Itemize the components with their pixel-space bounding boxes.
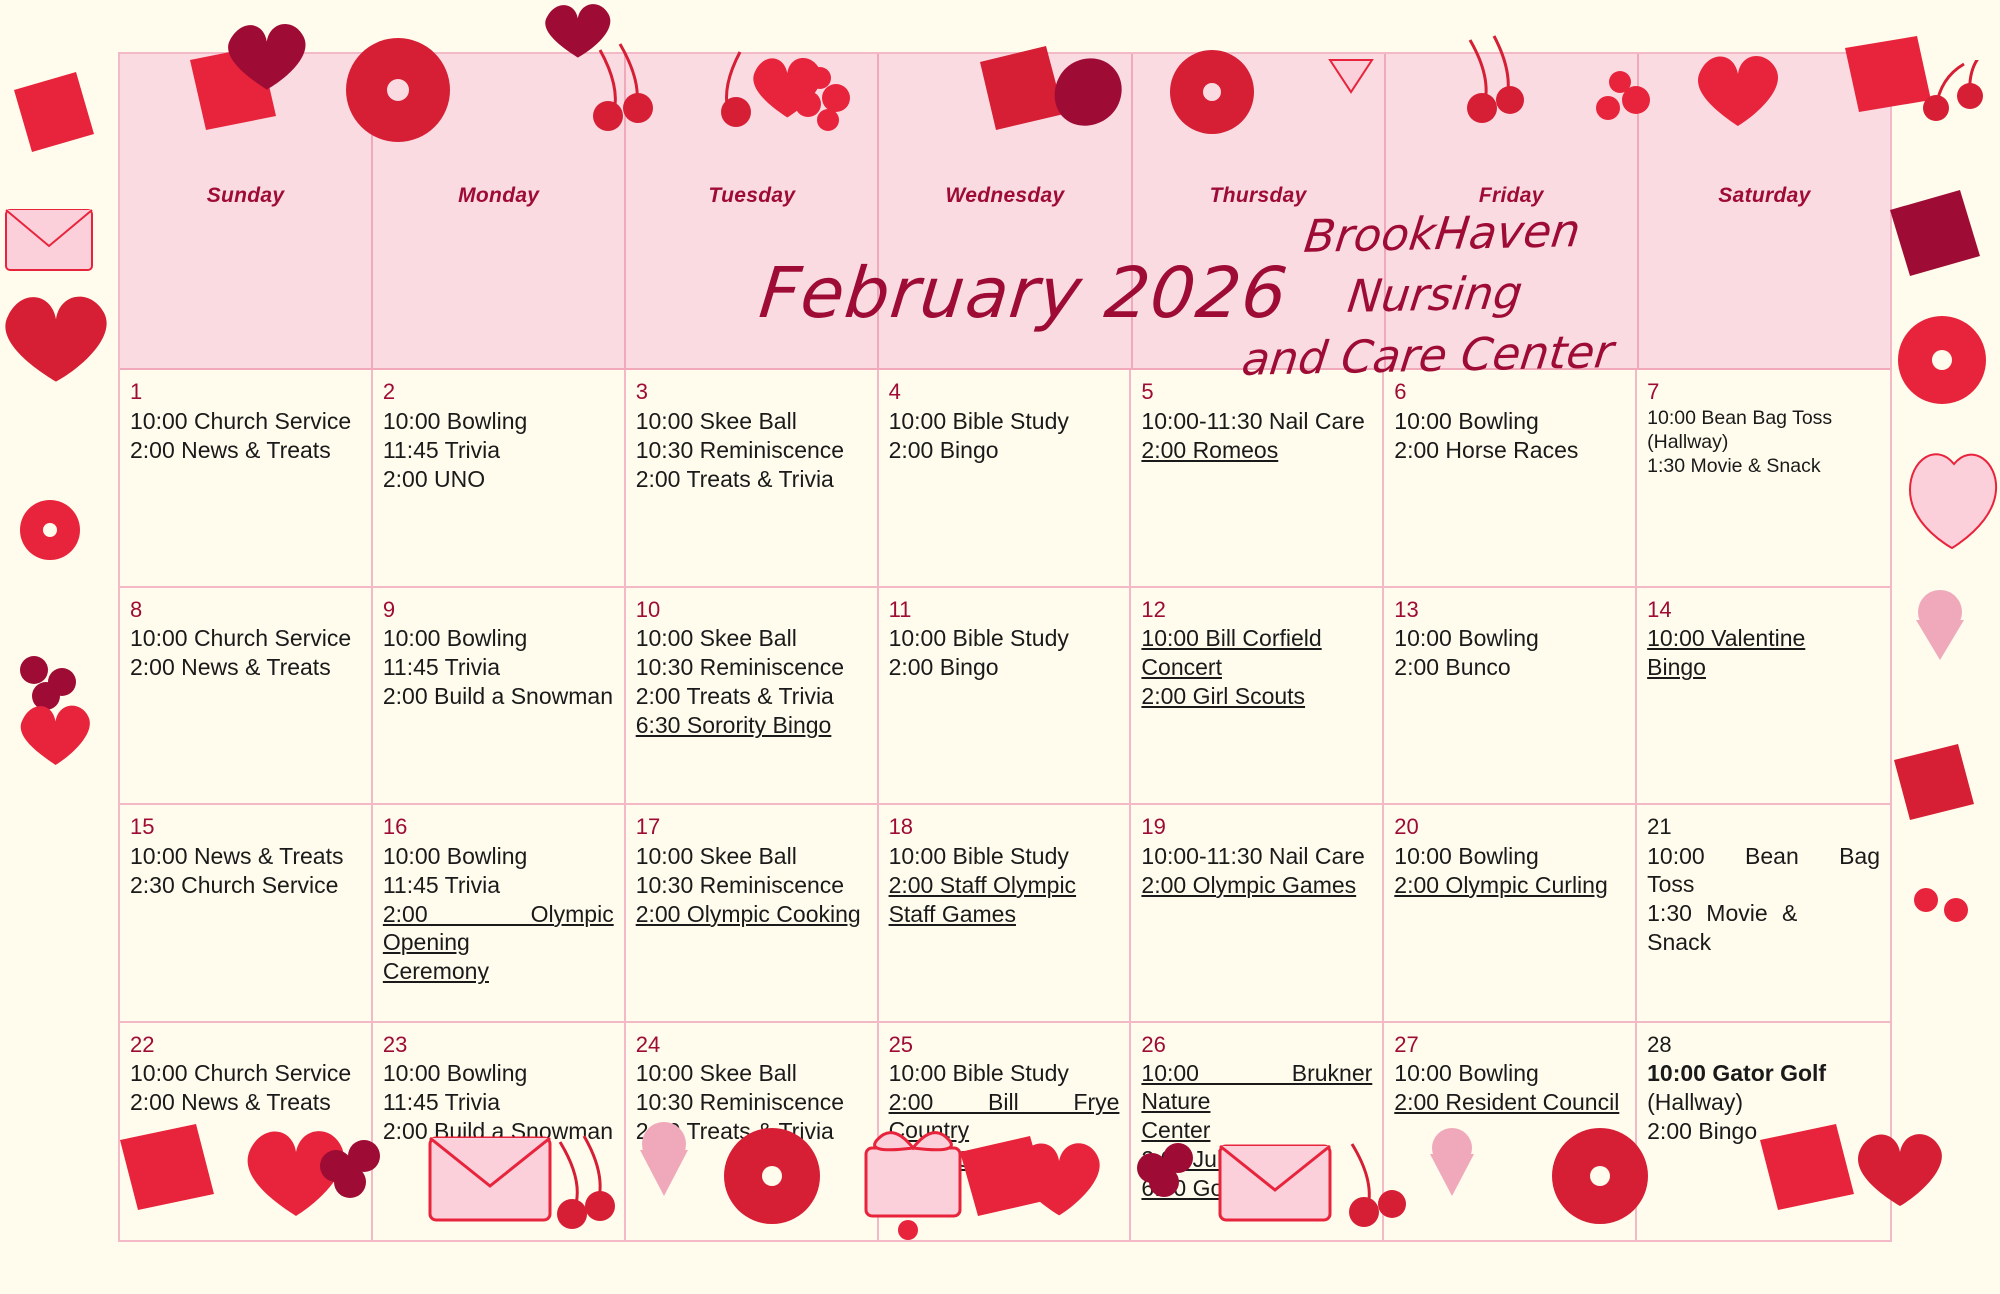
event-item: 10:00 Bowling: [1394, 407, 1625, 435]
day-cell-27[interactable]: 2710:00 Bowling2:00 Resident Council: [1384, 1023, 1637, 1241]
event-item: 11:45 Trivia: [383, 871, 614, 899]
event-item: 10:00 Skee Ball: [636, 407, 867, 435]
event-item: 10:00 Skee Ball: [636, 624, 867, 652]
event-item: 10:00 Skee Ball: [636, 1059, 867, 1087]
day-cell-12[interactable]: 1210:00 Bill Corfield Concert2:00 Girl S…: [1131, 588, 1384, 806]
event-item: 10:00 Bowling: [1394, 1059, 1625, 1087]
event-item[interactable]: 2:00 Olympic Opening: [383, 900, 614, 956]
event-list: 10:00 Church Service2:00 News & Treats: [130, 1059, 361, 1116]
day-number: 28: [1647, 1031, 1880, 1059]
day-cell-21[interactable]: 2110:00 Bean Bag Toss1:30 Movie &Snack: [1637, 805, 1890, 1023]
event-item: 2:00 News & Treats: [130, 653, 361, 681]
event-item: 10:00 Church Service: [130, 407, 361, 435]
day-cell-8[interactable]: 810:00 Church Service2:00 News & Treats: [120, 588, 373, 806]
day-number: 15: [130, 813, 361, 841]
day-number: 25: [889, 1031, 1120, 1059]
event-list: 10:00 Skee Ball10:30 Reminiscence2:00 Tr…: [636, 1059, 867, 1145]
event-item: 2:00 Build a Snowman: [383, 1117, 614, 1145]
event-item: 2:00 Bingo: [889, 653, 1120, 681]
event-item: 10:00 Bible Study: [889, 842, 1120, 870]
event-item: (Hallway): [1647, 431, 1880, 454]
event-list: 10:00 Bible Study2:00 Bill Frye CountryM…: [889, 1059, 1120, 1173]
day-cell-19[interactable]: 1910:00-11:30 Nail Care2:00 Olympic Game…: [1131, 805, 1384, 1023]
day-header-monday: Monday: [373, 54, 626, 368]
event-item: 11:45 Trivia: [383, 653, 614, 681]
event-list: 10:00 Bowling2:00 Olympic Curling: [1394, 842, 1625, 899]
day-cell-26[interactable]: 2610:00 Brukner NatureCenter2:00 Juliett…: [1131, 1023, 1384, 1241]
day-cell-9[interactable]: 910:00 Bowling11:45 Trivia2:00 Build a S…: [373, 588, 626, 806]
event-item: 10:00 Bean Bag Toss: [1647, 407, 1880, 430]
event-item: 2:00 Treats & Trivia: [636, 682, 867, 710]
day-number: 26: [1141, 1031, 1372, 1059]
event-item: 10:00 Bowling: [1394, 624, 1625, 652]
day-header-label: Monday: [373, 184, 624, 208]
day-number: 23: [383, 1031, 614, 1059]
day-number: 17: [636, 813, 867, 841]
day-cell-28[interactable]: 2810:00 Gator Golf(Hallway)2:00 Bingo: [1637, 1023, 1890, 1241]
event-list: 10:00 Bean Bag Toss1:30 Movie &Snack: [1647, 842, 1880, 956]
event-item: 10:30 Reminiscence: [636, 436, 867, 464]
day-cell-1[interactable]: 110:00 Church Service2:00 News & Treats: [120, 370, 373, 588]
day-cell-16[interactable]: 1610:00 Bowling11:45 Trivia2:00 Olympic …: [373, 805, 626, 1023]
day-number: 1: [130, 378, 361, 406]
event-list: 10:00 Bowling11:45 Trivia2:00 Build a Sn…: [383, 1059, 614, 1145]
day-number: 14: [1647, 596, 1880, 624]
decor-right-edge: [1880, 60, 2000, 960]
event-list: 10:00 Bible Study2:00 Bingo: [889, 407, 1120, 464]
day-cell-14[interactable]: 1410:00 ValentineBingo: [1637, 588, 1890, 806]
event-item[interactable]: Bingo: [1647, 653, 1880, 681]
event-item[interactable]: 10:00 Brukner Nature: [1141, 1059, 1372, 1115]
day-cell-18[interactable]: 1810:00 Bible Study2:00 Staff OlympicSta…: [879, 805, 1132, 1023]
event-item: 10:30 Reminiscence: [636, 871, 867, 899]
day-header-label: Sunday: [120, 184, 371, 208]
day-number: 7: [1647, 378, 1880, 406]
day-number: 22: [130, 1031, 361, 1059]
event-list: 10:00 Skee Ball10:30 Reminiscence2:00 Tr…: [636, 624, 867, 739]
event-list: 10:00 Bowling2:00 Resident Council: [1394, 1059, 1625, 1116]
event-list: 10:00 Skee Ball10:30 Reminiscence2:00 Ol…: [636, 842, 867, 928]
day-number: 18: [889, 813, 1120, 841]
day-cell-10[interactable]: 1010:00 Skee Ball10:30 Reminiscence2:00 …: [626, 588, 879, 806]
event-list: 10:00 ValentineBingo: [1647, 624, 1880, 681]
event-item: 2:00 Build a Snowman: [383, 682, 614, 710]
event-item[interactable]: 2:00 Romeos: [1141, 436, 1372, 464]
day-cell-7[interactable]: 710:00 Bean Bag Toss(Hallway)1:30 Movie …: [1637, 370, 1890, 588]
day-number: 9: [383, 596, 614, 624]
event-item: 2:00 News & Treats: [130, 436, 361, 464]
event-item: 10:00 Bowling: [383, 407, 614, 435]
event-item[interactable]: 2:00 Girl Scouts: [1141, 682, 1372, 710]
event-item: 10:00-11:30 Nail Care: [1141, 407, 1372, 435]
day-header-label: Tuesday: [626, 184, 877, 208]
event-item: 1:30 Movie & Snack: [1647, 455, 1880, 478]
event-list: 10:00 Bowling11:45 Trivia2:00 Build a Sn…: [383, 624, 614, 710]
event-item[interactable]: 2:00 Bill Frye Country: [889, 1088, 1120, 1144]
event-item: 10:00 News & Treats: [130, 842, 361, 870]
day-number: 8: [130, 596, 361, 624]
event-list: 10:00 Bowling2:00 Bunco: [1394, 624, 1625, 681]
event-item: 10:30 Reminiscence: [636, 653, 867, 681]
event-item: 2:00 Treats & Trivia: [636, 1117, 867, 1145]
day-number: 2: [383, 378, 614, 406]
facility-name-line1: BrookHaven Nursing: [1301, 204, 1583, 322]
event-list: 10:00 Bill Corfield Concert2:00 Girl Sco…: [1141, 624, 1372, 710]
day-cell-11[interactable]: 1110:00 Bible Study2:00 Bingo: [879, 588, 1132, 806]
event-list: 10:00-11:30 Nail Care2:00 Olympic Games: [1141, 842, 1372, 899]
event-list: 10:00 Gator Golf(Hallway)2:00 Bingo: [1647, 1059, 1880, 1145]
event-item: 11:45 Trivia: [383, 436, 614, 464]
calendar-table: Sunday Monday Tuesday Wednesday Thursday…: [118, 52, 1892, 1242]
day-number: 16: [383, 813, 614, 841]
day-cell-23[interactable]: 2310:00 Bowling11:45 Trivia2:00 Build a …: [373, 1023, 626, 1241]
facility-name: BrookHaven Nursing and Care Center: [1193, 199, 1676, 391]
event-list: 10:00 Church Service2:00 News & Treats: [130, 407, 361, 464]
event-item[interactable]: 2:00 Staff Olympic: [889, 871, 1120, 899]
facility-name-line2: and Care Center: [1239, 325, 1616, 386]
event-item[interactable]: Music Concert: [889, 1145, 1120, 1173]
event-item: 2:00 Horse Races: [1394, 436, 1625, 464]
event-list: 10:00 Bean Bag Toss(Hallway)1:30 Movie &…: [1647, 407, 1880, 479]
event-item: 10:00-11:30 Nail Care: [1141, 842, 1372, 870]
day-number: 13: [1394, 596, 1625, 624]
event-list: 10:00-11:30 Nail Care2:00 Romeos: [1141, 407, 1372, 464]
event-item: 2:30 Church Service: [130, 871, 361, 899]
event-list: 10:00 News & Treats2:30 Church Service: [130, 842, 361, 899]
event-item: Snack: [1647, 928, 1880, 956]
event-item: (Hallway): [1647, 1088, 1880, 1116]
event-item[interactable]: 2:00 Resident Council: [1394, 1088, 1625, 1116]
day-header-sunday: Sunday: [120, 54, 373, 368]
event-item[interactable]: 2:00 Juliette's: [1141, 1145, 1372, 1173]
event-item: 10:00 Gator Golf: [1647, 1059, 1880, 1087]
day-number: 21: [1647, 813, 1880, 841]
event-item: 10:00 Church Service: [130, 1059, 361, 1087]
event-item: 10:00 Skee Ball: [636, 842, 867, 870]
day-cell-13[interactable]: 1310:00 Bowling2:00 Bunco: [1384, 588, 1637, 806]
day-cell-3[interactable]: 310:00 Skee Ball10:30 Reminiscence2:00 T…: [626, 370, 879, 588]
day-cell-22[interactable]: 2210:00 Church Service2:00 News & Treats: [120, 1023, 373, 1241]
calendar-grid: 110:00 Church Service2:00 News & Treats2…: [120, 370, 1890, 1240]
event-item: 2:00 UNO: [383, 465, 614, 493]
day-number: 12: [1141, 596, 1372, 624]
event-item[interactable]: 2:00 Olympic Cooking: [636, 900, 867, 928]
day-cell-24[interactable]: 2410:00 Skee Ball10:30 Reminiscence2:00 …: [626, 1023, 879, 1241]
day-cell-15[interactable]: 1510:00 News & Treats2:30 Church Service: [120, 805, 373, 1023]
event-item[interactable]: 6:30 Gospel Sing: [1141, 1174, 1372, 1202]
event-item[interactable]: Concert: [1141, 653, 1372, 681]
day-number: 4: [889, 378, 1120, 406]
day-header-saturday: Saturday: [1639, 54, 1890, 368]
day-cell-17[interactable]: 1710:00 Skee Ball10:30 Reminiscence2:00 …: [626, 805, 879, 1023]
event-item[interactable]: 2:00 Olympic Games: [1141, 871, 1372, 899]
day-number: 19: [1141, 813, 1372, 841]
event-list: 10:00 Bowling11:45 Trivia2:00 Olympic Op…: [383, 842, 614, 985]
day-cell-4[interactable]: 410:00 Bible Study2:00 Bingo: [879, 370, 1132, 588]
event-list: 10:00 Bible Study2:00 Staff OlympicStaff…: [889, 842, 1120, 928]
event-item[interactable]: 2:00 Olympic Curling: [1394, 871, 1625, 899]
day-number: 24: [636, 1031, 867, 1059]
event-list: 10:00 Church Service2:00 News & Treats: [130, 624, 361, 681]
event-list: 10:00 Bowling11:45 Trivia2:00 UNO: [383, 407, 614, 493]
day-header-label: Saturday: [1639, 184, 1890, 208]
event-item[interactable]: Ceremony: [383, 957, 614, 985]
event-item: 2:00 Treats & Trivia: [636, 465, 867, 493]
day-cell-2[interactable]: 210:00 Bowling11:45 Trivia2:00 UNO: [373, 370, 626, 588]
calendar-page: Sunday Monday Tuesday Wednesday Thursday…: [0, 0, 2000, 1294]
day-number: 11: [889, 596, 1120, 624]
day-cell-20[interactable]: 2010:00 Bowling2:00 Olympic Curling: [1384, 805, 1637, 1023]
event-item: 10:30 Reminiscence: [636, 1088, 867, 1116]
day-number: 27: [1394, 1031, 1625, 1059]
event-item: 2:00 News & Treats: [130, 1088, 361, 1116]
event-item[interactable]: Staff Games: [889, 900, 1120, 928]
event-item: 11:45 Trivia: [383, 1088, 614, 1116]
day-cell-25[interactable]: 2510:00 Bible Study2:00 Bill Frye Countr…: [879, 1023, 1132, 1241]
event-item[interactable]: 10:00 Bill Corfield: [1141, 624, 1372, 652]
event-item: 10:00 Bean Bag Toss: [1647, 842, 1880, 898]
event-item: 10:00 Church Service: [130, 624, 361, 652]
calendar-header-band: Sunday Monday Tuesday Wednesday Thursday…: [120, 54, 1890, 370]
day-number: 10: [636, 596, 867, 624]
event-item: 10:00 Bowling: [1394, 842, 1625, 870]
event-list: 10:00 Bowling2:00 Horse Races: [1394, 407, 1625, 464]
event-list: 10:00 Bible Study2:00 Bingo: [889, 624, 1120, 681]
day-cell-6[interactable]: 610:00 Bowling2:00 Horse Races: [1384, 370, 1637, 588]
event-item: 2:00 Bunco: [1394, 653, 1625, 681]
event-item: 2:00 Bingo: [1647, 1117, 1880, 1145]
event-item: 10:00 Bible Study: [889, 624, 1120, 652]
event-item: 10:00 Bowling: [383, 1059, 614, 1087]
event-item: 2:00 Bingo: [889, 436, 1120, 464]
day-cell-5[interactable]: 510:00-11:30 Nail Care2:00 Romeos: [1131, 370, 1384, 588]
event-list: 10:00 Skee Ball10:30 Reminiscence2:00 Tr…: [636, 407, 867, 493]
day-header-label: Thursday: [1133, 184, 1384, 208]
decor-left-edge: [0, 60, 120, 960]
day-number: 20: [1394, 813, 1625, 841]
event-list: 10:00 Brukner NatureCenter2:00 Juliette'…: [1141, 1059, 1372, 1202]
event-item: 10:00 Bible Study: [889, 407, 1120, 435]
event-item: 10:00 Bowling: [383, 842, 614, 870]
day-header-label: Wednesday: [879, 184, 1130, 208]
event-item: 1:30 Movie &: [1647, 899, 1880, 927]
event-item: 10:00 Bowling: [383, 624, 614, 652]
event-item[interactable]: 10:00 Valentine: [1647, 624, 1880, 652]
day-number: 3: [636, 378, 867, 406]
event-item[interactable]: 6:30 Sorority Bingo: [636, 711, 867, 739]
event-item: 10:00 Bible Study: [889, 1059, 1120, 1087]
event-item[interactable]: Center: [1141, 1116, 1372, 1144]
